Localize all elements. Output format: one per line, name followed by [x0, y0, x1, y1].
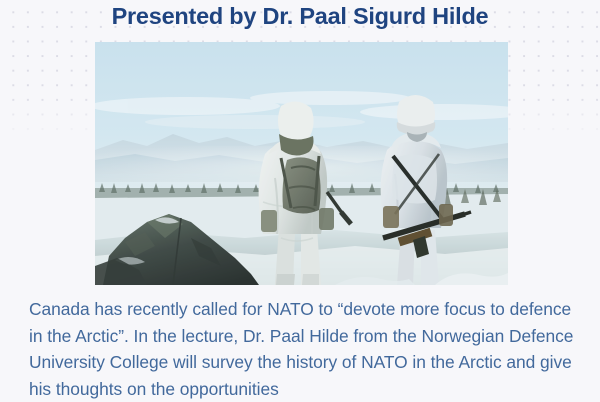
page-title: Presented by Dr. Paal Sigurd Hilde	[0, 3, 600, 30]
photo-artwork	[95, 42, 508, 285]
arctic-soldiers-photo	[95, 42, 508, 285]
lecture-description: Canada has recently called for NATO to “…	[29, 296, 581, 402]
